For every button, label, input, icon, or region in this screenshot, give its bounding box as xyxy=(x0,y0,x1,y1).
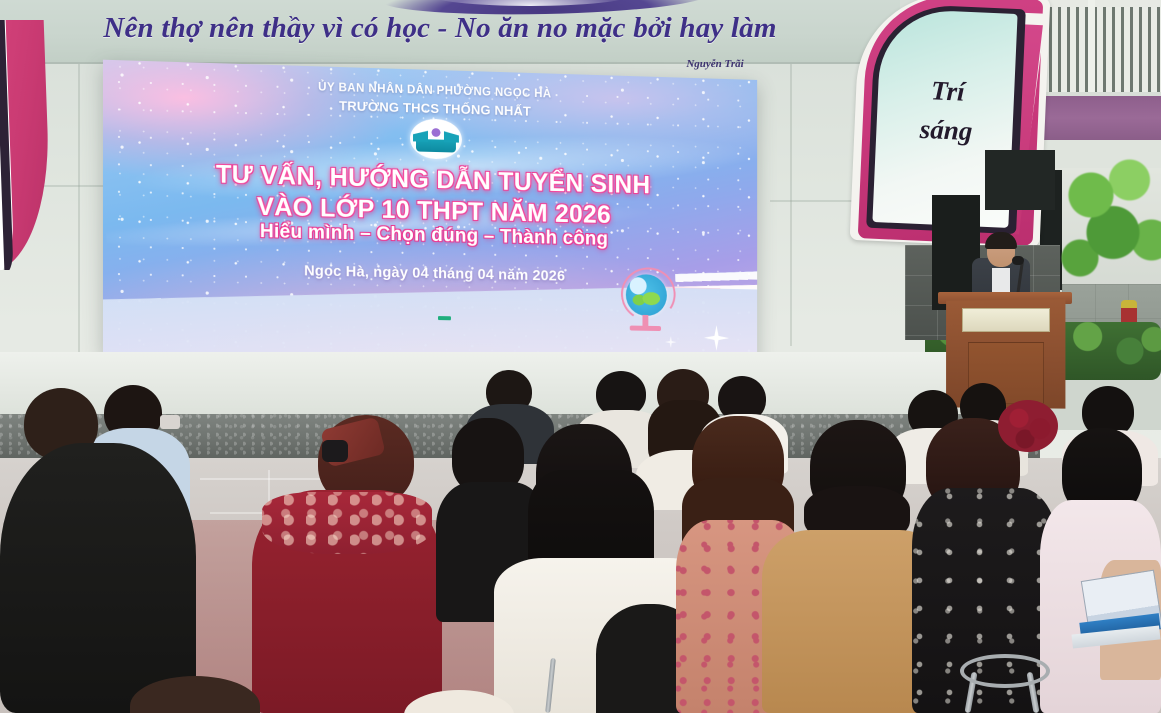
led-presentation-screen: ỦY BAN NHÂN DÂN PHƯỜNG NGỌC HÀ TRƯỜNG TH… xyxy=(103,60,757,366)
dark-column-upper xyxy=(985,150,1055,210)
wall-motto-author: Nguyễn Trãi xyxy=(640,58,790,70)
banner-text-line2: sáng xyxy=(891,109,1001,153)
tree-foliage xyxy=(1058,150,1161,300)
hair-clip-icon xyxy=(322,440,348,462)
wall-seam xyxy=(790,46,792,346)
wall-seam xyxy=(78,46,80,356)
left-decorative-banner xyxy=(0,20,48,270)
globe-icon xyxy=(626,274,667,316)
school-emblem-icon xyxy=(410,118,462,159)
face-mask-icon xyxy=(160,415,180,429)
flower-hair-accessory xyxy=(998,400,1058,452)
wall-motto-text: Nên thợ nên thầy vì có học - No ăn no mặ… xyxy=(100,12,780,45)
railing-post xyxy=(1088,0,1095,96)
chair-ring xyxy=(960,654,1050,688)
lace-collar xyxy=(262,492,432,554)
globe-base xyxy=(630,326,661,332)
screen-green-indicator xyxy=(438,316,451,320)
banner-text: Trí sáng xyxy=(891,70,1002,153)
podium-nameplate xyxy=(962,308,1050,332)
microphone-icon xyxy=(1012,256,1024,265)
banner-text-line1: Trí xyxy=(893,70,1003,114)
books-icon xyxy=(675,270,757,333)
assembly-photograph: Nên thợ nên thầy vì có học - No ăn no mặ… xyxy=(0,0,1161,713)
attendee-black-shirt xyxy=(0,443,196,713)
